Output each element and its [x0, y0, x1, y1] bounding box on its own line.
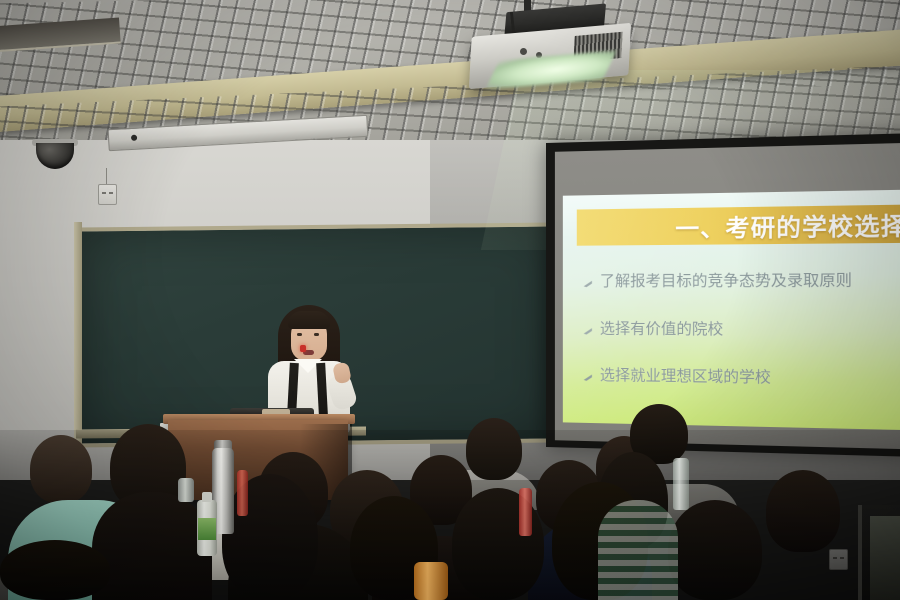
water-bottle	[673, 458, 689, 510]
clip-microphone-icon	[300, 345, 306, 352]
slide-bullet-item: 选择就业理想区域的学校	[583, 367, 900, 389]
red-bottle	[519, 488, 532, 536]
slide-bullet-item: 了解报考目标的竞争态势及录取原则	[583, 273, 900, 291]
arrow-flag-bullet-icon	[583, 372, 594, 383]
bottle-label	[198, 518, 216, 540]
arrow-flag-bullet-icon	[583, 326, 594, 337]
audience-head-front	[766, 470, 840, 552]
screen-surface: 一、考研的学校选择 了解报考目标的竞争态势及录取原则 选择有价值的院校	[555, 143, 900, 450]
audience-head-front	[668, 500, 762, 600]
audience-head-front	[0, 540, 110, 600]
slide-bullet-list: 了解报考目标的竞争态势及录取原则 选择有价值的院校 选择就业理想区域的学校	[583, 273, 900, 421]
housing-box-dot	[131, 135, 137, 141]
slide-bullet-text: 选择有价值的院校	[600, 321, 723, 339]
projector-knob-1	[520, 48, 527, 55]
audience-body	[92, 492, 212, 600]
slide-title-bar: 一、考研的学校选择	[577, 204, 900, 245]
presenter-bangs	[288, 311, 330, 329]
bottle-cap	[202, 492, 212, 502]
cup	[178, 478, 194, 502]
presenter-eye-right	[314, 333, 319, 336]
wall-outlet-left[interactable]	[98, 184, 117, 205]
audience-striped-shirt	[598, 500, 678, 600]
slide-bullet-text: 选择就业理想区域的学校	[600, 368, 771, 387]
slide-title: 一、考研的学校选择	[675, 206, 900, 244]
projection-screen: 一、考研的学校选择 了解报考目标的竞争态势及录取原则 选择有价值的院校	[546, 133, 900, 457]
wall-outlet-right-2[interactable]	[829, 549, 848, 570]
orange-bottle	[414, 562, 448, 600]
lecture-hall-photo: 一、考研的学校选择 了解报考目标的竞争态势及录取原则 选择有价值的院校	[0, 0, 900, 600]
audience-head	[466, 418, 522, 480]
arrow-flag-bullet-icon	[583, 279, 594, 290]
audience-head	[30, 435, 92, 503]
slide: 一、考研的学校选择 了解报考目标的竞争态势及录取原则 选择有价值的院校	[563, 190, 900, 431]
blackboard-frame	[74, 222, 82, 444]
red-bottle	[237, 470, 248, 516]
slide-bullet-item: 选择有价值的院校	[583, 321, 900, 340]
slide-bullet-text: 了解报考目标的竞争态势及录取原则	[600, 273, 852, 291]
presenter-eye-left	[297, 333, 302, 336]
doorway-interior	[870, 516, 900, 600]
